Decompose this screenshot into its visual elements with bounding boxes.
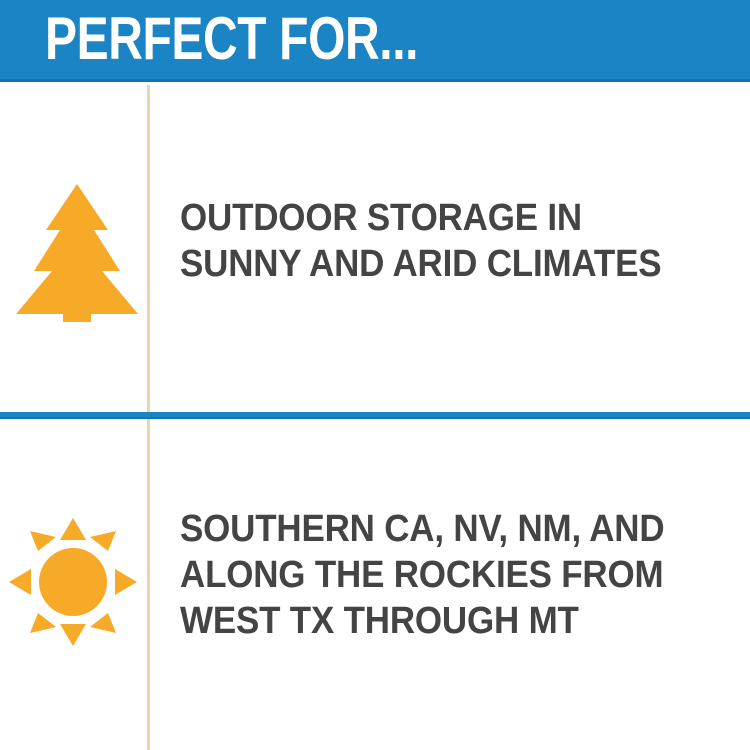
feature-row-outdoor-storage: OUTDOOR STORAGE IN SUNNY AND ARID CLIMAT…	[0, 82, 750, 412]
section-divider	[0, 412, 750, 419]
feature-icon-cell	[0, 421, 147, 750]
feature-text-regions: SOUTHERN CA, NV, NM, AND ALONG THE ROCKI…	[180, 506, 740, 644]
sun-icon	[8, 517, 138, 647]
feature-text-line: OUTDOOR STORAGE IN	[180, 195, 695, 241]
pine-tree-icon	[12, 182, 142, 322]
feature-text-line: SOUTHERN CA, NV, NM, AND	[180, 506, 695, 552]
page-title-text: PERFECT FOR...	[45, 8, 418, 68]
feature-text-outdoor-storage: OUTDOOR STORAGE IN SUNNY AND ARID CLIMAT…	[180, 195, 740, 287]
feature-text-line: WEST TX THROUGH MT	[180, 598, 695, 644]
feature-icon-cell	[0, 82, 147, 412]
feature-text-line: SUNNY AND ARID CLIMATES	[180, 241, 695, 287]
header-banner: PERFECT FOR...	[0, 0, 750, 82]
feature-text-line: ALONG THE ROCKIES FROM	[180, 552, 695, 598]
feature-row-regions: SOUTHERN CA, NV, NM, AND ALONG THE ROCKI…	[0, 421, 750, 750]
perfect-for-infographic-card: PERFECT FOR... OUTDOOR STORAGE IN SUNNY …	[0, 0, 750, 750]
page-title: PERFECT FOR...	[45, 8, 511, 68]
